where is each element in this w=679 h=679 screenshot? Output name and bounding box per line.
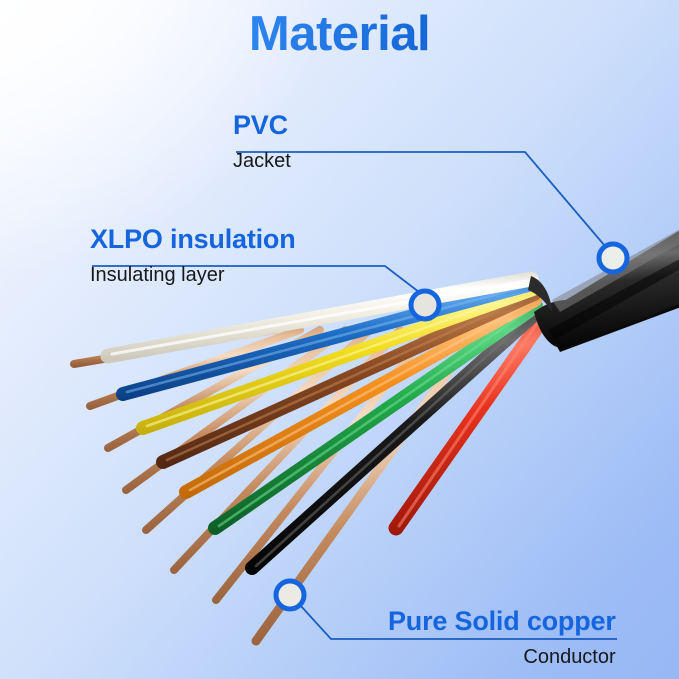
- marker-pvc: [599, 244, 627, 272]
- cable-illustration: [0, 0, 679, 679]
- marker-xlpo: [411, 291, 439, 319]
- marker-copper: [276, 581, 304, 609]
- cable-jacket: [528, 218, 679, 352]
- callout-xlpo-subtitle: Insulating layer: [90, 265, 296, 285]
- material-diagram: Material PVC Jacket XLPO insulation Insu…: [0, 0, 679, 679]
- wire-fan: [74, 279, 542, 641]
- callout-xlpo-title: XLPO insulation: [90, 226, 296, 253]
- callout-pvc: PVC Jacket: [233, 112, 291, 171]
- callout-pvc-title: PVC: [233, 112, 291, 139]
- callout-copper-title: Pure Solid copper: [388, 608, 616, 635]
- page-title: Material: [0, 6, 679, 62]
- callout-copper: Pure Solid copper Conductor: [388, 608, 616, 667]
- callout-xlpo: XLPO insulation Insulating layer: [90, 226, 296, 285]
- callout-pvc-subtitle: Jacket: [233, 151, 291, 171]
- callout-copper-subtitle: Conductor: [388, 647, 616, 667]
